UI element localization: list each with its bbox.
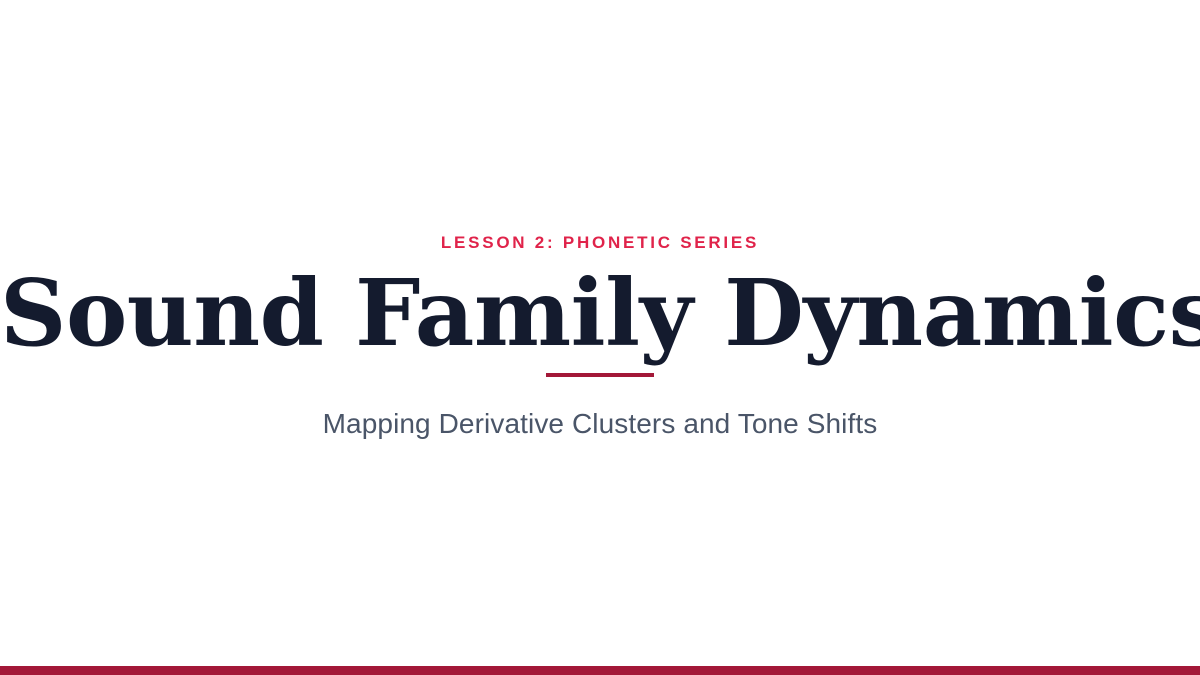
title-block: LESSON 2: PHONETIC SERIES Sound Family D… bbox=[0, 0, 1200, 675]
title-slide: LESSON 2: PHONETIC SERIES Sound Family D… bbox=[0, 0, 1200, 675]
page-title: Sound Family Dynamics bbox=[0, 264, 1200, 362]
lesson-eyebrow-label: LESSON 2: PHONETIC SERIES bbox=[0, 232, 1200, 254]
subtitle-text: Mapping Derivative Clusters and Tone Shi… bbox=[0, 406, 1200, 442]
bottom-accent-bar bbox=[0, 666, 1200, 675]
title-divider-rule bbox=[546, 373, 654, 377]
